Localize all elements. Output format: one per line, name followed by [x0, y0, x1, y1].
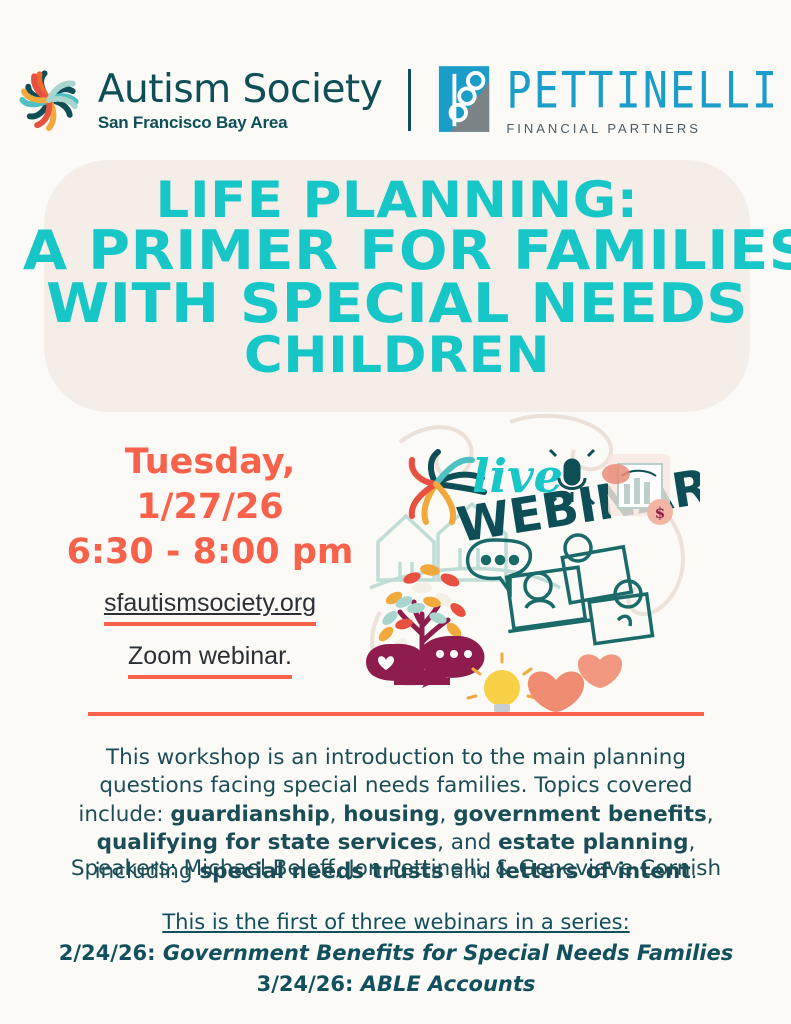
desc-sep-4: , and	[437, 830, 498, 855]
series-item-1-title: Government Benefits for Special Needs Fa…	[163, 941, 733, 965]
event-details: Tuesday, 1/27/26 6:30 - 8:00 pm sfautism…	[60, 440, 360, 679]
platform-label: Zoom webinar.	[128, 642, 292, 679]
title-line-4: CHILDREN	[23, 331, 771, 380]
series-item-2-title: ABLE Accounts	[361, 972, 536, 996]
page-title: LIFE PLANNING: A PRIMER FOR FAMILIES WIT…	[23, 176, 771, 380]
topic-guardianship: guardianship	[170, 802, 329, 827]
event-time: 6:30 - 8:00 pm	[60, 530, 360, 576]
webinar-collage-illustration: live WEBINAR $	[360, 412, 700, 712]
speakers-line: Speakers: Michael Beloff, Jon Pettinelli…	[56, 856, 736, 881]
pettinelli-tagline: FINANCIAL PARTNERS	[506, 122, 779, 135]
logo-divider	[408, 69, 411, 131]
series-item-2: 3/24/26: ABLE Accounts	[56, 972, 736, 996]
series-heading: This is the first of three webinars in a…	[56, 910, 736, 934]
desc-sep-2: ,	[440, 802, 454, 827]
topic-government-benefits: government benefits	[453, 802, 707, 827]
title-line-2: A PRIMER FOR FAMILIES	[23, 225, 771, 278]
event-date: 1/27/26	[60, 485, 360, 530]
autism-society-name: Autism Society	[98, 70, 383, 109]
title-line-1: LIFE PLANNING:	[23, 176, 771, 225]
desc-sep-3: ,	[707, 802, 714, 827]
desc-sep-1: ,	[330, 802, 344, 827]
event-day: Tuesday,	[60, 440, 360, 485]
series-item-2-date: 3/24/26:	[257, 972, 361, 996]
dollar-symbol: $	[655, 504, 665, 522]
autism-society-chapter: San Francisco Bay Area	[98, 114, 383, 131]
autism-society-pinwheel-icon	[12, 63, 86, 137]
header-logos: Autism Society San Francisco Bay Area PE…	[0, 52, 791, 148]
topic-state-services: qualifying for state services	[97, 830, 438, 855]
topic-estate-planning: estate planning	[498, 830, 688, 855]
topic-housing: housing	[343, 802, 439, 827]
website-link[interactable]: sfautismsociety.org	[104, 589, 316, 626]
heart-icon	[528, 654, 622, 712]
autism-society-logo: Autism Society San Francisco Bay Area	[12, 63, 383, 137]
section-divider	[88, 712, 704, 716]
title-line-3: WITH SPECIAL NEEDS	[23, 278, 771, 331]
flyer-canvas: Autism Society San Francisco Bay Area PE…	[0, 0, 791, 1024]
series-section: This is the first of three webinars in a…	[56, 910, 736, 996]
series-item-1-date: 2/24/26:	[59, 941, 163, 965]
series-item-1: 2/24/26: Government Benefits for Special…	[56, 941, 736, 965]
pettinelli-logo: PETTINELLI FINANCIAL PARTNERS	[437, 64, 779, 136]
autism-society-wordmark: Autism Society San Francisco Bay Area	[98, 70, 383, 131]
money-chart-icon: $	[602, 454, 673, 525]
pettinelli-wordmark: PETTINELLI FINANCIAL PARTNERS	[506, 66, 779, 135]
pettinelli-square-icon	[437, 64, 495, 136]
pettinelli-name: PETTINELLI	[506, 66, 779, 116]
